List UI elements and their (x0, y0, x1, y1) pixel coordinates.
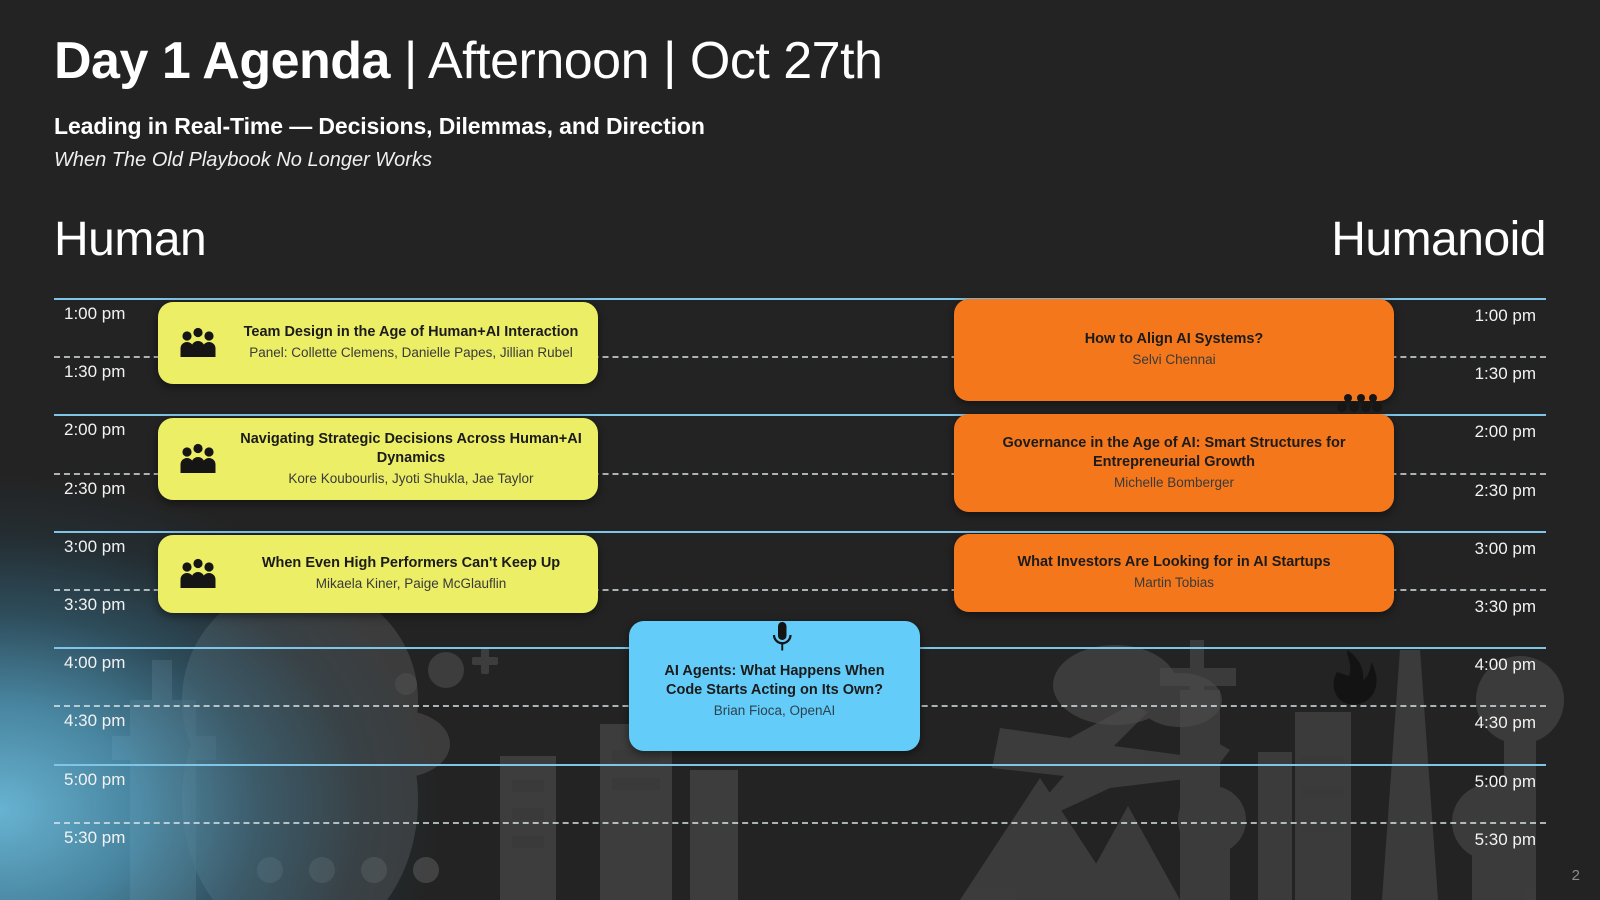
time-label-left-6: 4:00 pm (64, 653, 125, 673)
time-label-left-5: 3:30 pm (64, 595, 125, 615)
microphone-icon-wrap (770, 621, 794, 655)
gridline-3-00-pm (54, 531, 1546, 533)
session-title: Governance in the Age of AI: Smart Struc… (970, 434, 1378, 472)
session-title: AI Agents: What Happens When Code Starts… (645, 662, 904, 700)
gridline-5-00-pm (54, 764, 1546, 766)
session-title: Navigating Strategic Decisions Across Hu… (240, 430, 582, 468)
time-label-right-6: 4:00 pm (1475, 655, 1536, 675)
session-speakers: Mikaela Kiner, Paige McGlauflin (240, 575, 582, 593)
session-card-keynote[interactable]: AI Agents: What Happens When Code Starts… (629, 621, 920, 751)
session-title: What Investors Are Looking for in AI Sta… (970, 553, 1378, 572)
people-group-icon-wrap (180, 558, 216, 590)
time-label-left-1: 1:30 pm (64, 362, 125, 382)
session-title: How to Align AI Systems? (970, 330, 1378, 349)
card-body: When Even High Performers Can't Keep Up … (224, 554, 598, 593)
page-title-rest: | Afternoon | Oct 27th (390, 32, 882, 90)
time-label-left-7: 4:30 pm (64, 711, 125, 731)
session-speakers: Martin Tobias (970, 574, 1378, 592)
session-speakers: Selvi Chennai (970, 351, 1378, 369)
slide-subtitle: Leading in Real-Time — Decisions, Dilemm… (54, 113, 882, 140)
gridline-5-30-pm (54, 822, 1546, 824)
people-group-icon (180, 443, 216, 475)
session-card-human-3[interactable]: When Even High Performers Can't Keep Up … (158, 535, 598, 613)
session-card-human-1[interactable]: Team Design in the Age of Human+AI Inter… (158, 302, 598, 384)
session-card-human-2[interactable]: Navigating Strategic Decisions Across Hu… (158, 418, 598, 500)
card-body: Governance in the Age of AI: Smart Struc… (954, 434, 1394, 492)
session-title: Team Design in the Age of Human+AI Inter… (240, 323, 582, 342)
time-label-left-8: 5:00 pm (64, 770, 125, 790)
people-group-icon (180, 558, 216, 590)
people-group-icon (180, 327, 216, 359)
session-title: When Even High Performers Can't Keep Up (240, 554, 582, 573)
people-group-icon-wrap (180, 443, 216, 475)
page-title-strong: Day 1 Agenda (54, 32, 390, 90)
session-card-humanoid-1[interactable]: How to Align AI Systems? Selvi Chennai (954, 299, 1394, 401)
time-label-right-2: 2:00 pm (1475, 422, 1536, 442)
card-body: How to Align AI Systems? Selvi Chennai (954, 330, 1394, 369)
time-label-right-7: 4:30 pm (1475, 713, 1536, 733)
slide-tagline: When The Old Playbook No Longer Works (54, 149, 882, 172)
column-header-human: Human (54, 212, 206, 267)
card-body: Navigating Strategic Decisions Across Hu… (224, 430, 598, 488)
microphone-icon (770, 621, 794, 655)
session-card-humanoid-2[interactable]: Governance in the Age of AI: Smart Struc… (954, 414, 1394, 512)
card-body: What Investors Are Looking for in AI Sta… (954, 553, 1394, 592)
flame-icon (1334, 650, 1377, 705)
time-label-left-3: 2:30 pm (64, 479, 125, 499)
column-header-humanoid: Humanoid (1331, 212, 1546, 267)
time-label-left-9: 5:30 pm (64, 828, 125, 848)
session-speakers: Kore Koubourlis, Jyoti Shukla, Jae Taylo… (240, 470, 582, 488)
time-label-right-4: 3:00 pm (1475, 539, 1536, 559)
time-label-right-0: 1:00 pm (1475, 306, 1536, 326)
decorative-dots-icon (1336, 392, 1382, 414)
session-speakers: Panel: Collette Clemens, Danielle Papes,… (240, 344, 582, 362)
time-label-right-8: 5:00 pm (1475, 772, 1536, 792)
time-label-left-2: 2:00 pm (64, 420, 125, 440)
people-group-icon-wrap (180, 327, 216, 359)
time-label-right-5: 3:30 pm (1475, 597, 1536, 617)
card-body: AI Agents: What Happens When Code Starts… (629, 662, 920, 751)
time-label-left-4: 3:00 pm (64, 537, 125, 557)
session-speakers: Michelle Bomberger (970, 474, 1378, 492)
session-card-humanoid-3[interactable]: What Investors Are Looking for in AI Sta… (954, 534, 1394, 612)
page-number: 2 (1572, 867, 1580, 884)
card-body: Team Design in the Age of Human+AI Inter… (224, 323, 598, 362)
time-label-left-0: 1:00 pm (64, 304, 125, 324)
page-title: Day 1 Agenda | Afternoon | Oct 27th (54, 34, 882, 89)
time-label-right-9: 5:30 pm (1475, 830, 1536, 850)
session-speakers: Brian Fioca, OpenAI (645, 702, 904, 720)
time-label-right-1: 1:30 pm (1475, 364, 1536, 384)
slide-header: Day 1 Agenda | Afternoon | Oct 27th Lead… (54, 34, 882, 172)
time-label-right-3: 2:30 pm (1475, 481, 1536, 501)
